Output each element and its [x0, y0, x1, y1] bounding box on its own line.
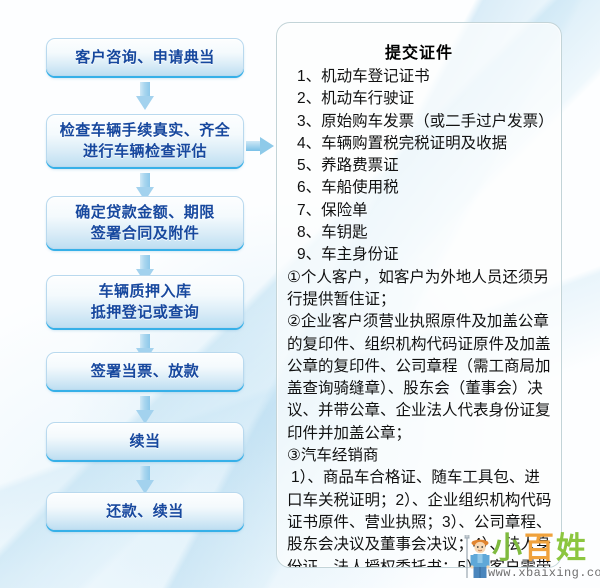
flowchart-canvas: 客户咨询、申请典当 检查车辆手续真实、齐全 进行车辆检查评估 确定贷款金额、期限…	[0, 0, 600, 588]
arrow-shaft	[140, 396, 150, 411]
documents-line: 公章的复印件、公司章程（需工商局加	[287, 356, 551, 378]
flow-step-3[interactable]: 确定贷款金额、期限 签署合同及附件	[46, 196, 244, 249]
documents-line: 8、车钥匙	[287, 222, 551, 244]
arrow-shaft	[140, 173, 150, 188]
documents-line: 份证、法人授权委托书；5）、客户需带	[287, 557, 551, 568]
arrow-head	[136, 96, 154, 110]
flow-step-7-label: 还款、续当	[100, 501, 190, 522]
watermark-url: www.xbaixing.com	[488, 566, 600, 580]
flow-step-5[interactable]: 签署当票、放款	[46, 352, 244, 390]
required-documents-panel: 提交证件 1、机动车登记证书2、机动车行驶证3、原始购车发票（或二手过户发票）4…	[276, 22, 562, 568]
documents-line: 3、原始购车发票（或二手过户发票）	[287, 111, 551, 133]
documents-line: 证书原件、营业执照；3）、公司章程、	[287, 512, 551, 534]
documents-line: 印件并加盖公章；	[287, 423, 551, 445]
documents-line: 口车关税证明；2）、企业组织机构代码	[287, 490, 551, 512]
arrow-down-icon-5	[136, 396, 154, 424]
arrow-shaft	[140, 255, 150, 270]
flow-step-6[interactable]: 续当	[46, 422, 244, 460]
documents-line: 6、车船使用税	[287, 177, 551, 199]
arrow-shaft	[140, 82, 150, 97]
flow-step-4-label: 车辆质押入库 抵押登记或查询	[85, 281, 206, 323]
documents-line: ①个人客户，如客户为外地人员还须另	[287, 267, 551, 289]
documents-line: 4、车辆购置税完税证明及收据	[287, 133, 551, 155]
flow-step-4[interactable]: 车辆质押入库 抵押登记或查询	[46, 275, 244, 328]
documents-panel-title: 提交证件	[287, 39, 551, 63]
flow-step-1-label: 客户咨询、申请典当	[69, 47, 221, 68]
documents-line: 1）、商品车合格证、随车工具包、进	[287, 467, 551, 489]
documents-line: ②企业客户须营业执照原件及加盖公章	[287, 311, 551, 333]
arrow-shaft	[140, 334, 150, 349]
documents-line: 5、养路费票证	[287, 155, 551, 177]
flow-step-6-label: 续当	[123, 431, 166, 452]
arrow-down-icon-1	[136, 82, 154, 110]
documents-line: 盖查询骑缝章）、股东会（董事会）决	[287, 378, 551, 400]
arrow-down-icon-6	[136, 466, 154, 494]
documents-line: 2、机动车行驶证	[287, 88, 551, 110]
documents-line: 1、机动车登记证书	[287, 66, 551, 88]
flow-step-5-label: 签署当票、放款	[85, 361, 206, 382]
flow-step-7[interactable]: 还款、续当	[46, 492, 244, 530]
arrow-shaft	[140, 466, 150, 481]
documents-line: 议、并带公章、企业法人代表身份证复	[287, 400, 551, 422]
arrow-head	[260, 137, 274, 155]
arrow-right-icon	[246, 137, 274, 155]
documents-list: 1、机动车登记证书2、机动车行驶证3、原始购车发票（或二手过户发票）4、车辆购置…	[287, 66, 551, 568]
documents-line: 9、车主身份证	[287, 244, 551, 266]
flow-step-3-label: 确定贷款金额、期限 签署合同及附件	[69, 202, 221, 244]
documents-line: 股东会决议及董事会决议；4）、法人身	[287, 534, 551, 556]
documents-line: 7、保险单	[287, 200, 551, 222]
documents-line: 的复印件、组织机构代码证原件及加盖	[287, 334, 551, 356]
flow-step-1[interactable]: 客户咨询、申请典当	[46, 38, 244, 76]
documents-line: 行提供暂住证；	[287, 289, 551, 311]
flow-step-2-label: 检查车辆手续真实、齐全 进行车辆检查评估	[54, 120, 237, 162]
documents-line: ③汽车经销商	[287, 445, 551, 467]
flow-step-2[interactable]: 检查车辆手续真实、齐全 进行车辆检查评估	[46, 114, 244, 167]
arrow-shaft	[246, 141, 261, 151]
